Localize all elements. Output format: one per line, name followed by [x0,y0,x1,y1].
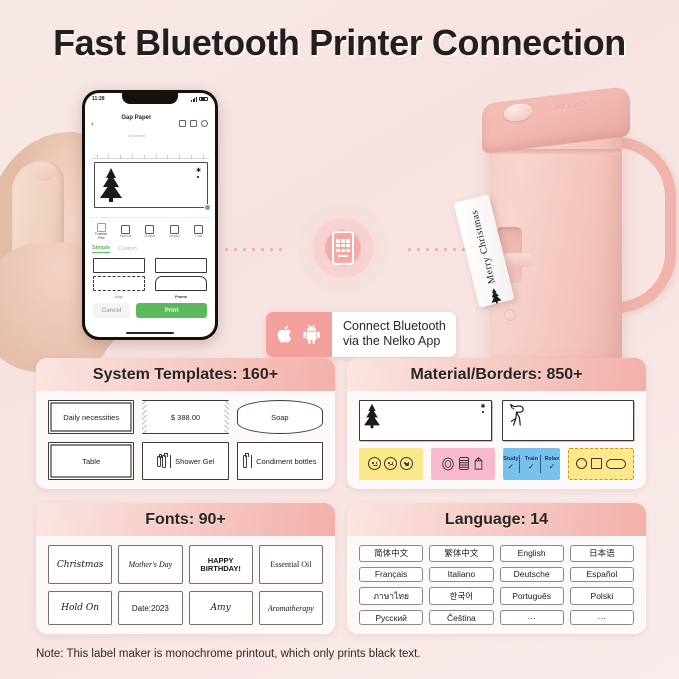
settings-icon[interactable] [201,120,208,127]
check-icon: ✓ [528,463,535,471]
sticker-emoji[interactable] [359,448,423,480]
toolbar-item-multiple[interactable]: Multiple [139,225,161,239]
save-icon[interactable] [190,120,197,127]
can-icon [458,456,470,471]
hero-section: 11:28 ‹ Gap Paper Unnamed [0,72,679,352]
dog-icon [507,402,529,429]
dot-marker [197,176,199,178]
header-icon-group [179,120,208,127]
panel-body: 简体中文 繁体中文 English 日本语 Français Italiano … [347,536,646,634]
panel-material-borders: Material/Borders: 850+ ✱ [347,358,646,489]
toolbar-label: Density [163,235,185,239]
dot-marker [482,411,484,413]
platform-icons [266,312,332,357]
border-row: ✱ [359,400,634,441]
template-label: Condiment bottles [256,457,316,466]
load-icon [194,225,203,234]
frame-tabs: Simple Custom [92,245,215,253]
density-icon [170,225,179,234]
bottle-icons [157,455,172,468]
sad-face-icon [384,457,397,470]
frame-option-frame[interactable]: Frame [155,258,207,299]
font-chip[interactable]: Aromatherapy [259,591,323,625]
language-chip[interactable]: Français [359,567,423,582]
frame-options: Align Frame [93,258,207,299]
avocado-icon [441,457,455,471]
sticker-checklist[interactable]: Study ✓ Train ✓ Relax ✓ [503,448,561,480]
editor-toolbar: FunctionPrint Material Multiple Density … [89,217,211,240]
home-indicator [126,332,174,334]
font-chip[interactable]: Amy [189,591,253,625]
smile-face-icon [368,457,381,470]
material-rows: ✱ [359,400,634,480]
template-chip[interactable]: $ 388.00 [142,400,228,434]
toolbar-label: Load [188,235,210,239]
checklist-cell[interactable]: Study ✓ [503,455,521,474]
app-header: ‹ Gap Paper Unnamed [85,102,215,144]
canvas-ruler [91,150,209,159]
template-label: Soap [271,413,289,422]
bottle-icon [162,455,166,468]
bottle-icon [157,456,161,467]
phone-notch [122,93,178,104]
template-label: Daily necessities [63,413,119,422]
font-chip[interactable]: Christmas [48,545,112,584]
language-chip[interactable]: ··· [500,610,564,625]
status-time: 11:28 [92,96,105,102]
printed-label-text: Merry Christmas [469,209,498,285]
apple-icon [277,324,294,344]
border-sample-dog[interactable] [502,400,635,441]
connect-bluetooth-badge: Connect Bluetooth via the Nelko App [266,312,456,357]
tab-simple[interactable]: Simple [92,245,110,253]
bottle-icon [243,455,247,468]
app-title-block: Gap Paper Unnamed [98,106,175,141]
language-chip[interactable]: Polski [570,587,634,606]
bluetooth-signal-pulse [297,202,389,294]
toolbar-item-material[interactable]: Material [115,225,137,239]
device-icon [332,231,354,265]
share-icon[interactable] [179,120,186,127]
toolbar-label: Multiple [139,235,161,239]
font-grid: Christmas Mother's Day HAPPY BIRTHDAY! E… [48,545,323,625]
panel-language: Language: 14 简体中文 繁体中文 English 日本语 Franç… [347,503,646,634]
language-chip[interactable]: 简体中文 [359,545,423,562]
signal-icon [191,97,197,102]
multiple-icon [145,225,154,234]
toolbar-label: Material [115,235,137,239]
frame-preview [93,276,145,291]
panel-fonts: Fonts: 90+ Christmas Mother's Day HAPPY … [36,503,335,634]
footer-note: Note: This label maker is monochrome pri… [36,648,421,660]
android-icon [302,324,321,344]
template-chip[interactable]: Daily necessities [48,400,134,434]
panel-body: Christmas Mother's Day HAPPY BIRTHDAY! E… [36,536,335,634]
language-grid: 简体中文 繁体中文 English 日本语 Français Italiano … [359,545,634,625]
sticker-food[interactable] [431,448,495,480]
frame-preview [155,276,207,291]
panel-heading: Material/Borders: 850+ [347,358,646,391]
device-bar [338,255,348,257]
panel-heading: Language: 14 [347,503,646,536]
tab-custom[interactable]: Custom [118,246,137,252]
sticker-row: Study ✓ Train ✓ Relax ✓ [359,448,634,480]
label-printer-product: NELKO Merry Christmas [452,77,679,377]
font-chip[interactable]: Mother's Day [118,545,182,584]
template-grid: Daily necessities $ 388.00 Soap Table [48,400,323,480]
cancel-button[interactable]: Cancel [93,303,130,318]
language-chip[interactable]: Русский [359,610,423,625]
check-icon: ✓ [507,463,514,471]
toolbar-label: FunctionPrint [90,233,112,240]
christmas-tree-icon [99,167,123,203]
language-chip[interactable]: 日本语 [570,545,634,562]
smartphone-mockup: 11:28 ‹ Gap Paper Unnamed [82,90,218,340]
print-button[interactable]: Print [136,303,207,318]
christmas-tree-icon [363,403,381,429]
frame-preview [93,258,145,273]
action-buttons: Cancel Print [93,303,207,318]
checklist-cell[interactable]: Relax ✓ [544,455,561,474]
print-icon [97,223,106,232]
frame-preview [155,258,207,273]
language-chip[interactable]: English [500,545,564,562]
status-icons [191,97,208,102]
panel-body: Daily necessities $ 388.00 Soap Table [36,391,335,489]
template-chip[interactable]: Table [48,442,134,480]
frame-option-label: Frame [155,294,207,299]
battery-icon [199,97,208,102]
language-chip[interactable]: Deutsche [500,567,564,582]
language-chip[interactable]: 한국어 [429,587,493,606]
template-chip[interactable]: Soap [237,400,323,434]
connect-badge-line2: via the Nelko App [343,334,446,349]
border-sample-tree[interactable]: ✱ [359,400,492,441]
checklist-cell[interactable]: Train ✓ [523,455,541,474]
connector-dots-left [225,248,282,250]
template-chip[interactable]: Condiment bottles [237,442,323,480]
thumb-nail [32,162,56,181]
printer-roller [502,253,532,267]
font-chip[interactable]: Date:2023 [118,591,182,625]
star-icon: ✱ [196,167,201,174]
resize-handle[interactable] [204,204,211,211]
check-icon: ✓ [549,463,556,471]
page-title: Fast Bluetooth Printer Connection [0,22,679,64]
pill-shape-icon [606,459,626,469]
language-chip[interactable]: Italiano [429,567,493,582]
label-canvas[interactable]: ✱ [94,162,208,208]
surprised-face-icon [400,457,413,470]
square-shape-icon [591,458,602,469]
panel-heading: Fonts: 90+ [36,503,335,536]
material-icon [121,225,130,234]
panel-heading: System Templates: 160+ [36,358,335,391]
language-chip[interactable]: ··· [570,610,634,625]
panel-body: ✱ [347,391,646,489]
connect-badge-text: Connect Bluetooth via the Nelko App [332,312,456,357]
phone-screen: 11:28 ‹ Gap Paper Unnamed [85,93,215,337]
language-chip[interactable]: 繁体中文 [429,545,493,562]
font-chip[interactable]: HAPPY BIRTHDAY! [189,545,253,584]
milk-carton-icon [473,456,484,471]
panel-system-templates: System Templates: 160+ Daily necessities… [36,358,335,489]
language-chip[interactable]: Español [570,567,634,582]
circle-shape-icon [576,458,587,469]
language-chip[interactable]: Čeština [429,610,493,625]
template-label: Table [82,457,100,466]
template-label: $ 388.00 [171,413,200,422]
font-chip[interactable]: Hold On [48,591,112,625]
sticker-shapes[interactable] [568,448,634,480]
frame-option-label: Align [93,294,145,299]
font-chip[interactable]: Essential Oil [259,545,323,584]
app-title: Gap Paper [121,115,151,121]
app-subtitle: Unnamed [128,133,145,138]
connect-badge-line1: Connect Bluetooth [343,319,446,334]
star-icon: ✱ [480,403,485,410]
feature-panels: System Templates: 160+ Daily necessities… [36,358,646,634]
template-label: Shower Gel [175,457,214,466]
language-chip[interactable]: ภาษาไทย [359,587,423,606]
toolbar-item-density[interactable]: Density [163,225,185,239]
toolbar-item-load[interactable]: Load [188,225,210,239]
printer-indicator-light [504,309,516,321]
language-chip[interactable]: Português [500,587,564,606]
template-chip[interactable]: Shower Gel [142,442,228,480]
label-canvas-wrap: ✱ [94,162,208,208]
frame-option-align[interactable]: Align [93,258,145,299]
toolbar-item-print[interactable]: FunctionPrint [90,223,112,240]
device-keypad [336,239,351,252]
bottle-icons [243,455,252,468]
back-icon[interactable]: ‹ [91,120,94,128]
